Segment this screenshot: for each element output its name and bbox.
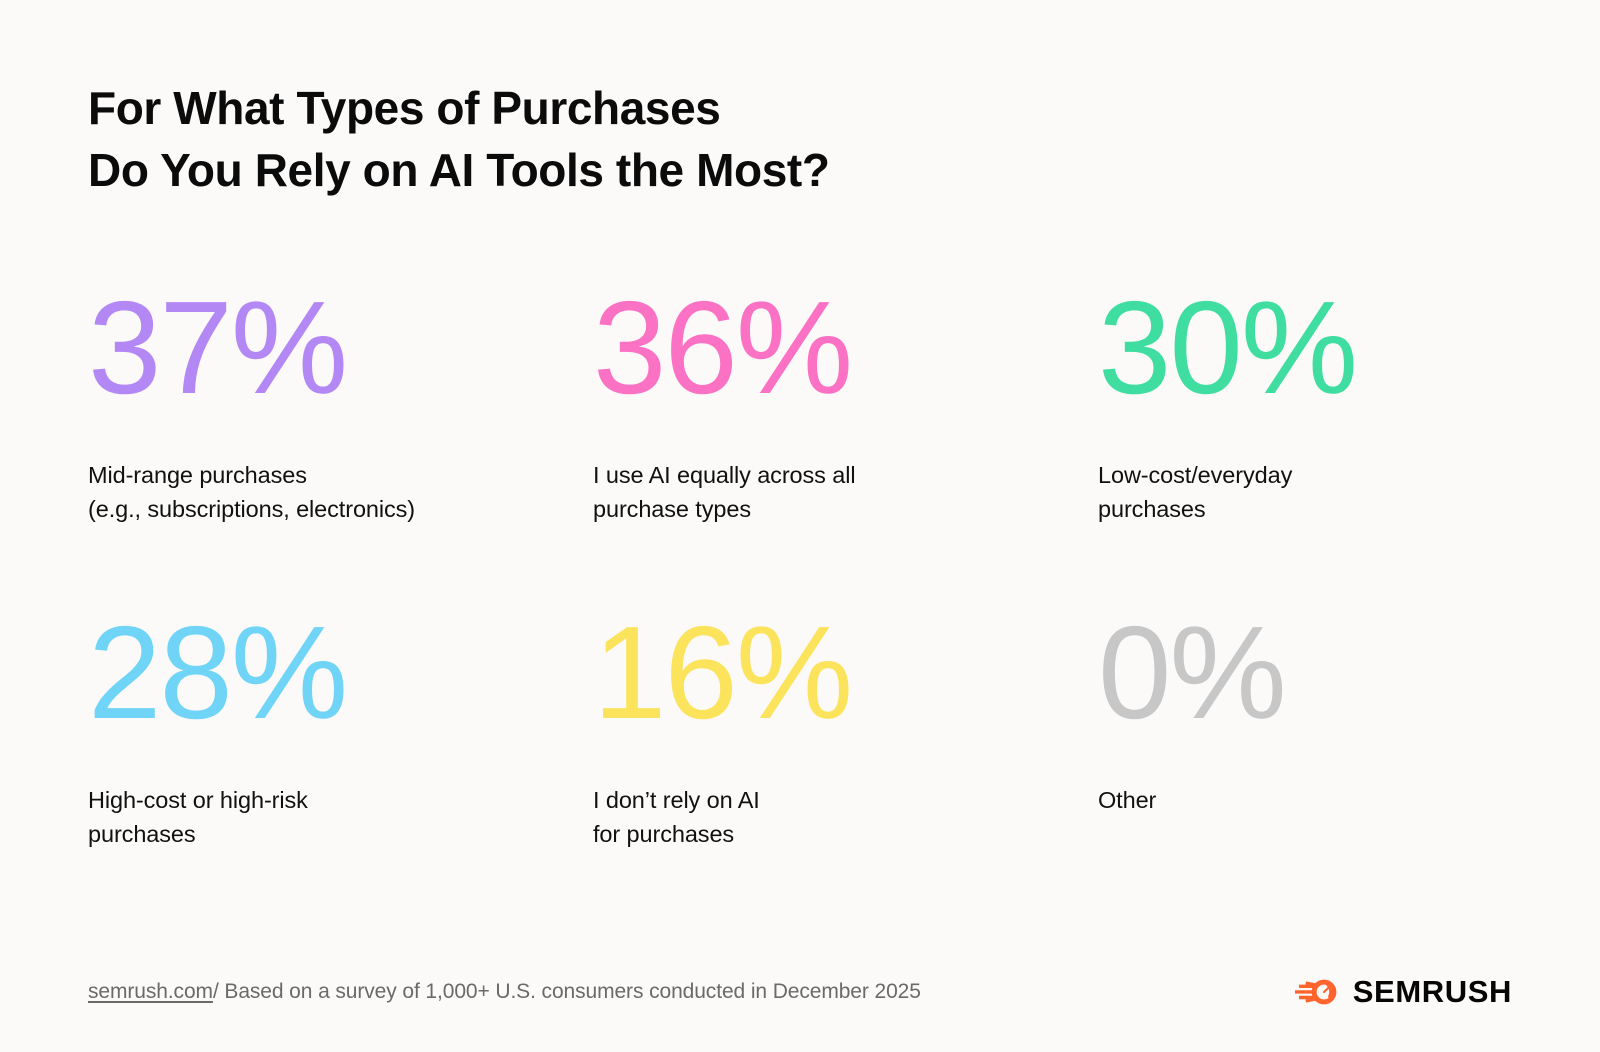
source-text: / Based on a survey of 1,000+ U.S. consu… — [213, 980, 921, 1004]
stats-grid: 37% Mid-range purchases (e.g., subscript… — [88, 282, 1512, 852]
footer: semrush.com / Based on a survey of 1,000… — [88, 970, 1512, 1014]
stat-label: I use AI equally across all purchase typ… — [593, 458, 1098, 527]
semrush-logo[interactable]: SEMRUSH — [1294, 974, 1512, 1010]
stat-label: High-cost or high-risk purchases — [88, 783, 593, 852]
stat-label: I don’t rely on AI for purchases — [593, 783, 1098, 852]
stat-value: 36% — [593, 282, 1098, 432]
stat-card-no-reliance: 16% I don’t rely on AI for purchases — [593, 607, 1098, 852]
semrush-comet-icon — [1294, 976, 1340, 1008]
stat-card-low-cost: 30% Low-cost/everyday purchases — [1098, 282, 1512, 607]
stat-card-equal-use: 36% I use AI equally across all purchase… — [593, 282, 1098, 607]
stat-value: 37% — [88, 282, 593, 432]
stat-value: 16% — [593, 607, 1098, 757]
semrush-wordmark: SEMRUSH — [1353, 974, 1512, 1010]
stat-card-other: 0% Other — [1098, 607, 1512, 852]
page-title: For What Types of Purchases Do You Rely … — [88, 78, 830, 201]
stat-value: 0% — [1098, 607, 1512, 757]
stat-card-high-cost: 28% High-cost or high-risk purchases — [88, 607, 593, 852]
semrush-link[interactable]: semrush.com — [88, 980, 213, 1004]
stat-value: 28% — [88, 607, 593, 757]
stat-card-mid-range: 37% Mid-range purchases (e.g., subscript… — [88, 282, 593, 607]
infographic-canvas: For What Types of Purchases Do You Rely … — [0, 0, 1600, 1052]
source-attribution: semrush.com / Based on a survey of 1,000… — [88, 980, 921, 1004]
stat-label: Low-cost/everyday purchases — [1098, 458, 1512, 527]
stat-label: Other — [1098, 783, 1512, 817]
stat-label: Mid-range purchases (e.g., subscriptions… — [88, 458, 593, 527]
stat-value: 30% — [1098, 282, 1512, 432]
